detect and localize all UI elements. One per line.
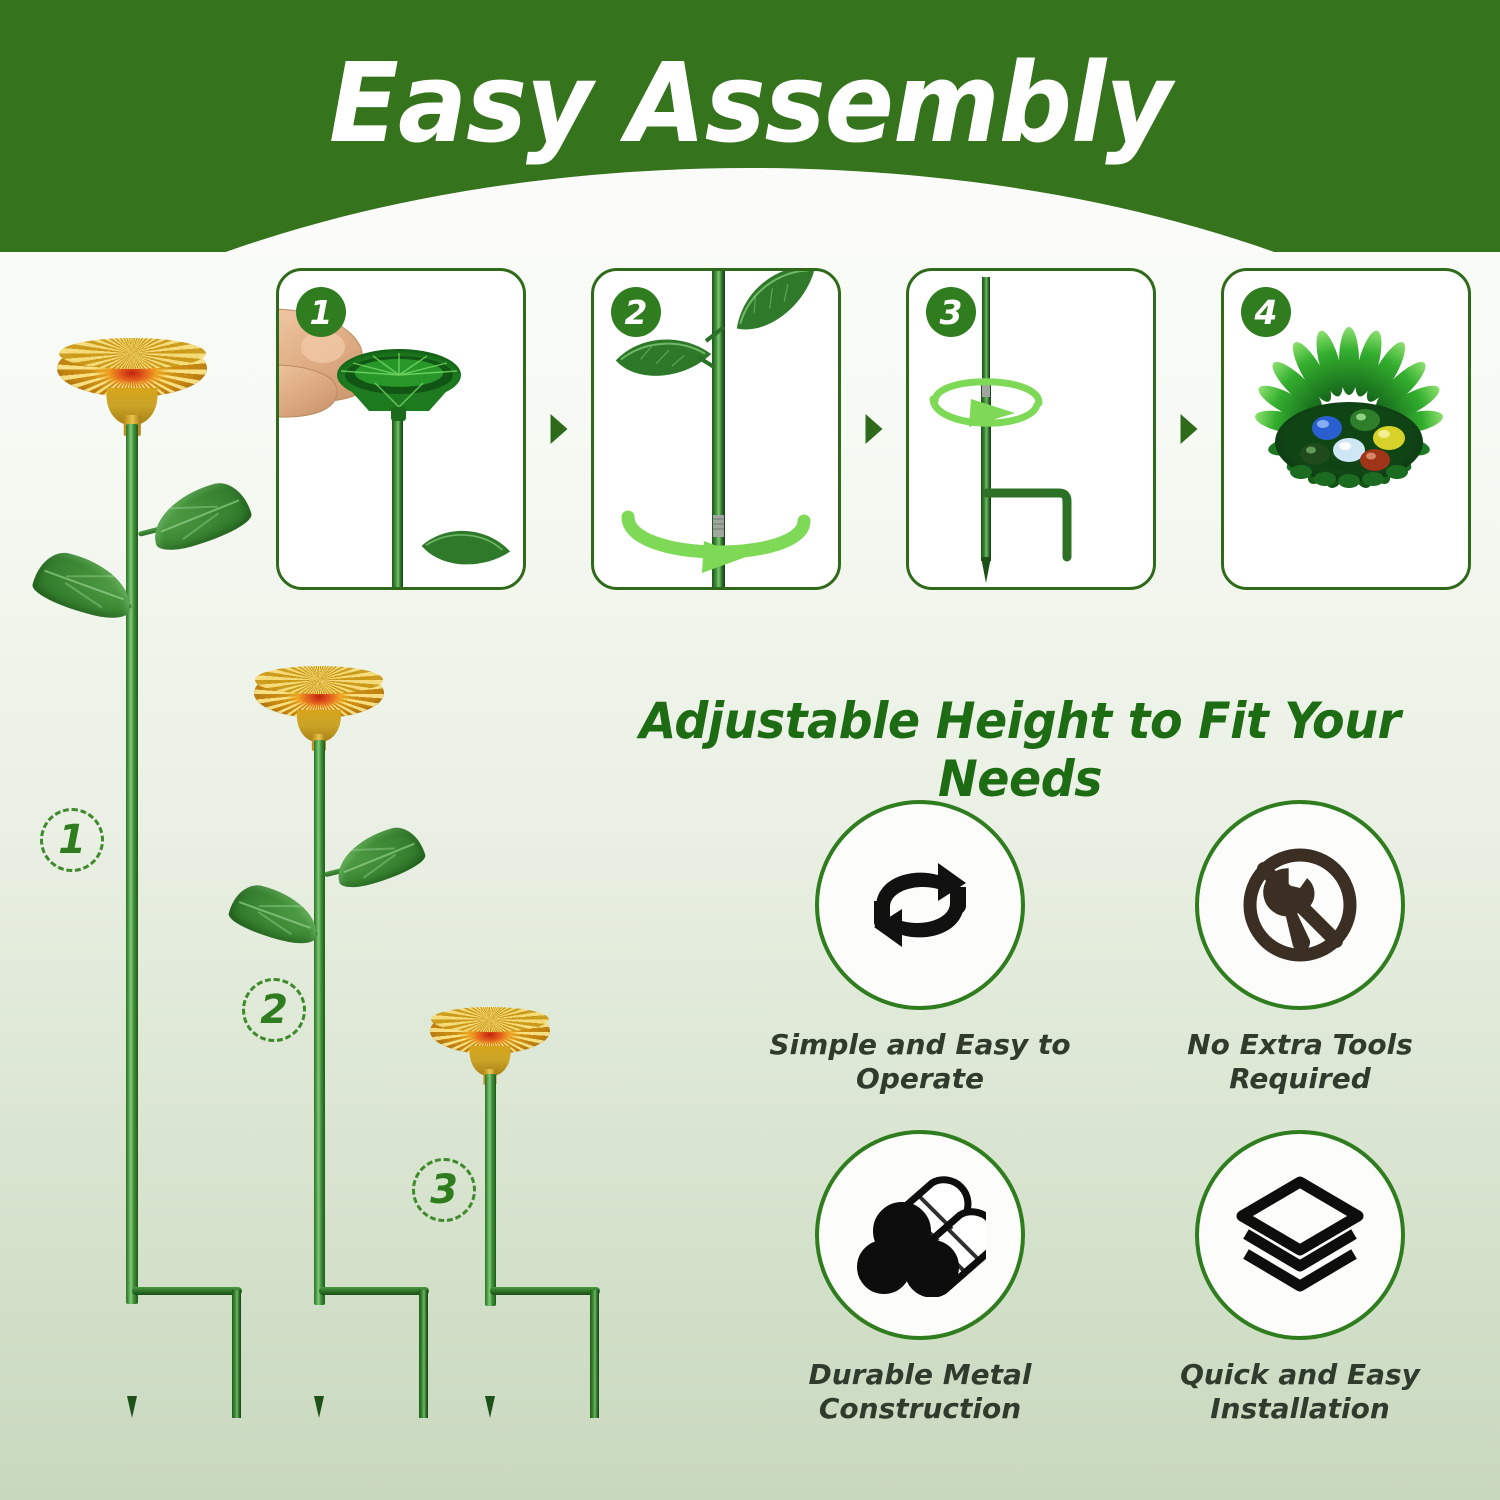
- step-number-badge: 4: [1241, 287, 1291, 337]
- adjustable-height-title: Adjustable Height to Fit Your Needs: [564, 692, 1476, 808]
- feature-icon-circle: [815, 800, 1025, 1010]
- layers-icon: [1234, 1172, 1366, 1298]
- flower-head: [254, 668, 384, 748]
- stake-side-leg: [232, 1290, 241, 1418]
- stem: [126, 424, 138, 1304]
- stake-tip: [127, 1396, 137, 1418]
- feature-label: Quick and Easy Installation: [1145, 1358, 1455, 1426]
- feature-grid: Simple and Easy to Operate No Extra Tool…: [730, 800, 1490, 1460]
- flower-head: [57, 340, 207, 432]
- rotation-arrows-icon: [854, 849, 986, 961]
- stake-crossbar: [490, 1287, 600, 1295]
- height-badge-3: 3: [412, 1158, 476, 1222]
- feature-label: No Extra Tools Required: [1145, 1028, 1455, 1096]
- infographic-canvas: Easy Assembly 1: [0, 0, 1500, 1500]
- feature-icon-circle: [1195, 800, 1405, 1010]
- flower-rim: [431, 1007, 549, 1032]
- stake-tip: [314, 1396, 324, 1418]
- step-number-badge: 1: [296, 287, 346, 337]
- feature-no-extra-tools: No Extra Tools Required: [1110, 800, 1490, 1130]
- stake-crossbar: [132, 1287, 242, 1295]
- stem: [485, 1074, 496, 1306]
- height-badge-1: 1: [40, 808, 104, 872]
- stake-crossbar: [319, 1287, 429, 1295]
- leaf-left: [226, 880, 325, 948]
- flower-rim: [255, 666, 382, 693]
- metal-pipes-icon: [854, 1173, 986, 1297]
- feature-simple-easy-operate: Simple and Easy to Operate: [730, 800, 1110, 1130]
- stake-side-leg: [590, 1290, 599, 1418]
- step-number-badge: 2: [611, 287, 661, 337]
- stake-tip: [485, 1396, 495, 1418]
- height-badge-2: 2: [242, 978, 306, 1042]
- stem: [314, 740, 325, 1305]
- feature-label: Simple and Easy to Operate: [765, 1028, 1075, 1096]
- flower-head: [430, 1008, 550, 1082]
- no-wrench-icon: [1236, 841, 1364, 969]
- feature-quick-easy-install: Quick and Easy Installation: [1110, 1130, 1490, 1460]
- leaf-right: [329, 822, 429, 893]
- feature-label: Durable Metal Construction: [765, 1358, 1075, 1426]
- feature-durable-metal: Durable Metal Construction: [730, 1130, 1110, 1460]
- feature-icon-circle: [815, 1130, 1025, 1340]
- stake-side-leg: [419, 1290, 428, 1418]
- leaf-left: [29, 547, 139, 624]
- step-number-badge: 3: [926, 287, 976, 337]
- leaf-right: [144, 476, 255, 555]
- feature-icon-circle: [1195, 1130, 1405, 1340]
